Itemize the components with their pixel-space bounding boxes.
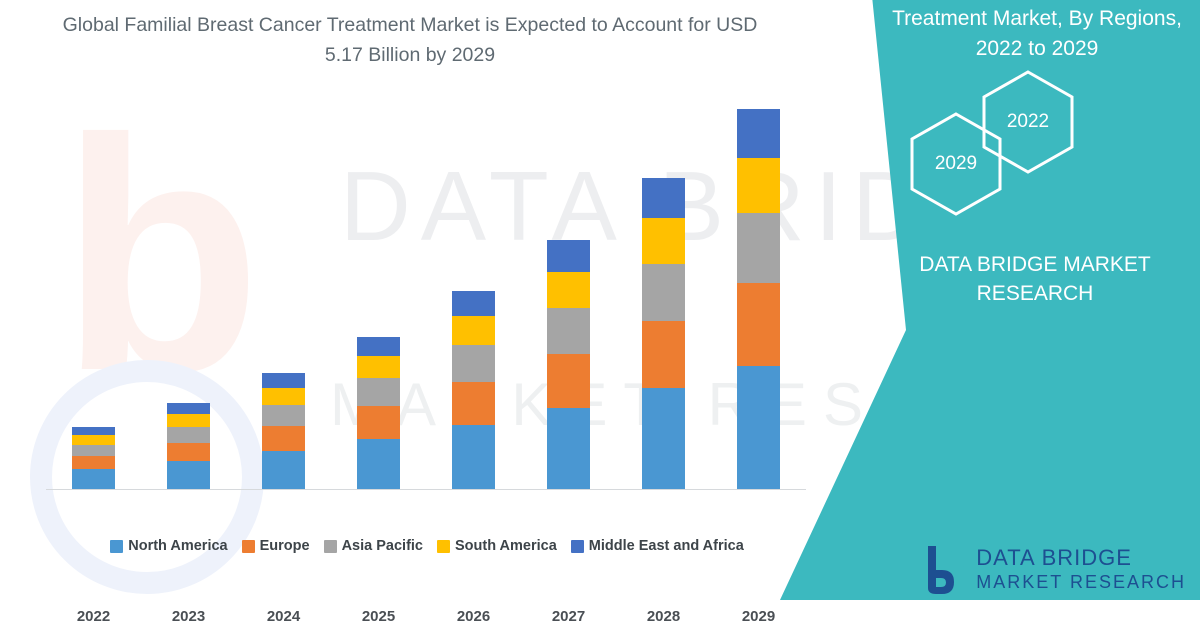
bar-segment	[262, 373, 305, 388]
bar-segment	[167, 414, 210, 427]
bar-column	[521, 118, 616, 489]
bridge-logo-icon	[922, 544, 966, 596]
stacked-bar-chart: 20222023202420252026202720282029	[46, 110, 806, 490]
panel-title: Treatment Market, By Regions, 2022 to 20…	[892, 4, 1182, 64]
bar-segment	[262, 451, 305, 489]
bar-segment	[737, 366, 780, 489]
stacked-bar[interactable]	[642, 178, 685, 489]
x-axis-label: 2027	[521, 608, 616, 625]
stacked-bar[interactable]	[737, 109, 780, 489]
screenshot-root: b DATA BRIDGE MARKET RESEARCH Global Fam…	[0, 0, 1200, 600]
x-axis-label: 2029	[711, 608, 806, 625]
bar-segment	[642, 264, 685, 321]
bar-segment	[167, 443, 210, 462]
bar-segment	[72, 469, 115, 489]
bar-column	[711, 118, 806, 489]
hex-badges: 2029 2022	[908, 96, 1108, 216]
bar-segment	[167, 403, 210, 414]
bar-segment	[737, 109, 780, 157]
bar-segment	[642, 218, 685, 264]
x-axis-label: 2022	[46, 608, 141, 625]
x-axis-label: 2026	[426, 608, 521, 625]
bar-segment	[452, 316, 495, 345]
bar-column	[46, 118, 141, 489]
bar-segment	[72, 435, 115, 444]
bar-segment	[737, 283, 780, 366]
stacked-bar[interactable]	[262, 373, 305, 489]
stacked-bar[interactable]	[452, 291, 495, 489]
x-axis-label: 2023	[141, 608, 236, 625]
bar-segment	[642, 388, 685, 489]
bar-segment	[452, 291, 495, 316]
legend-label: North America	[128, 538, 227, 554]
page-title: Global Familial Breast Cancer Treatment …	[60, 10, 760, 70]
hex-badge-2022: 2022	[980, 68, 1076, 176]
bar-segment	[262, 388, 305, 405]
bar-segment	[452, 345, 495, 381]
bar-segment	[167, 427, 210, 443]
stacked-bar[interactable]	[72, 427, 115, 489]
legend-item[interactable]: Asia Pacific	[324, 538, 423, 554]
bar-segment	[547, 408, 590, 489]
bar-column	[141, 118, 236, 489]
bar-column	[426, 118, 521, 489]
legend-item[interactable]: Middle East and Africa	[571, 538, 744, 554]
bar-segment	[167, 461, 210, 489]
hex-badge-2029-label: 2029	[935, 153, 977, 175]
bar-segment	[72, 445, 115, 456]
bar-segment	[547, 308, 590, 354]
chart-legend: North AmericaEuropeAsia PacificSouth Ame…	[46, 538, 808, 554]
bar-segment	[547, 240, 590, 272]
legend-label: Europe	[260, 538, 310, 554]
stacked-bar[interactable]	[357, 337, 400, 489]
bar-column	[616, 118, 711, 489]
stacked-bar[interactable]	[167, 403, 210, 489]
bar-segment	[72, 427, 115, 435]
bar-segment	[72, 456, 115, 469]
bar-group	[46, 118, 806, 489]
plot-area	[46, 118, 806, 490]
bar-segment	[547, 272, 590, 308]
panel-brand: DATA BRIDGE MARKET RESEARCH	[890, 250, 1180, 308]
x-axis-label: 2025	[331, 608, 426, 625]
bar-column	[236, 118, 331, 489]
stacked-bar[interactable]	[547, 240, 590, 489]
bar-segment	[357, 406, 400, 439]
legend-label: South America	[455, 538, 557, 554]
x-axis-line	[46, 489, 806, 490]
bar-segment	[452, 425, 495, 489]
x-axis-label: 2024	[236, 608, 331, 625]
legend-swatch	[571, 540, 584, 553]
legend-swatch	[242, 540, 255, 553]
legend-label: Middle East and Africa	[589, 538, 744, 554]
legend-item[interactable]: North America	[110, 538, 227, 554]
bar-segment	[357, 439, 400, 489]
company-logo-line1: DATA BRIDGE	[976, 545, 1186, 570]
bar-segment	[357, 337, 400, 356]
x-axis-labels: 20222023202420252026202720282029	[46, 608, 806, 625]
bar-segment	[737, 213, 780, 283]
legend-swatch	[110, 540, 123, 553]
legend-item[interactable]: Europe	[242, 538, 310, 554]
bar-segment	[642, 178, 685, 218]
legend-swatch	[324, 540, 337, 553]
x-axis-label: 2028	[616, 608, 711, 625]
company-logo-text: DATA BRIDGE MARKET RESEARCH	[976, 545, 1186, 595]
bar-segment	[547, 354, 590, 408]
bar-column	[331, 118, 426, 489]
bar-segment	[262, 426, 305, 451]
company-logo: DATA BRIDGE MARKET RESEARCH	[922, 544, 1186, 596]
bar-segment	[357, 378, 400, 406]
bar-segment	[357, 356, 400, 379]
bar-segment	[642, 321, 685, 389]
legend-swatch	[437, 540, 450, 553]
company-logo-line2: MARKET RESEARCH	[976, 570, 1186, 595]
legend-label: Asia Pacific	[342, 538, 423, 554]
bar-segment	[737, 158, 780, 214]
panel-brand-line1: DATA BRIDGE MARKET	[890, 250, 1180, 279]
legend-item[interactable]: South America	[437, 538, 557, 554]
bar-segment	[452, 382, 495, 425]
hex-badge-2022-label: 2022	[1007, 111, 1049, 133]
panel-brand-line2: RESEARCH	[890, 279, 1180, 308]
bar-segment	[262, 405, 305, 426]
